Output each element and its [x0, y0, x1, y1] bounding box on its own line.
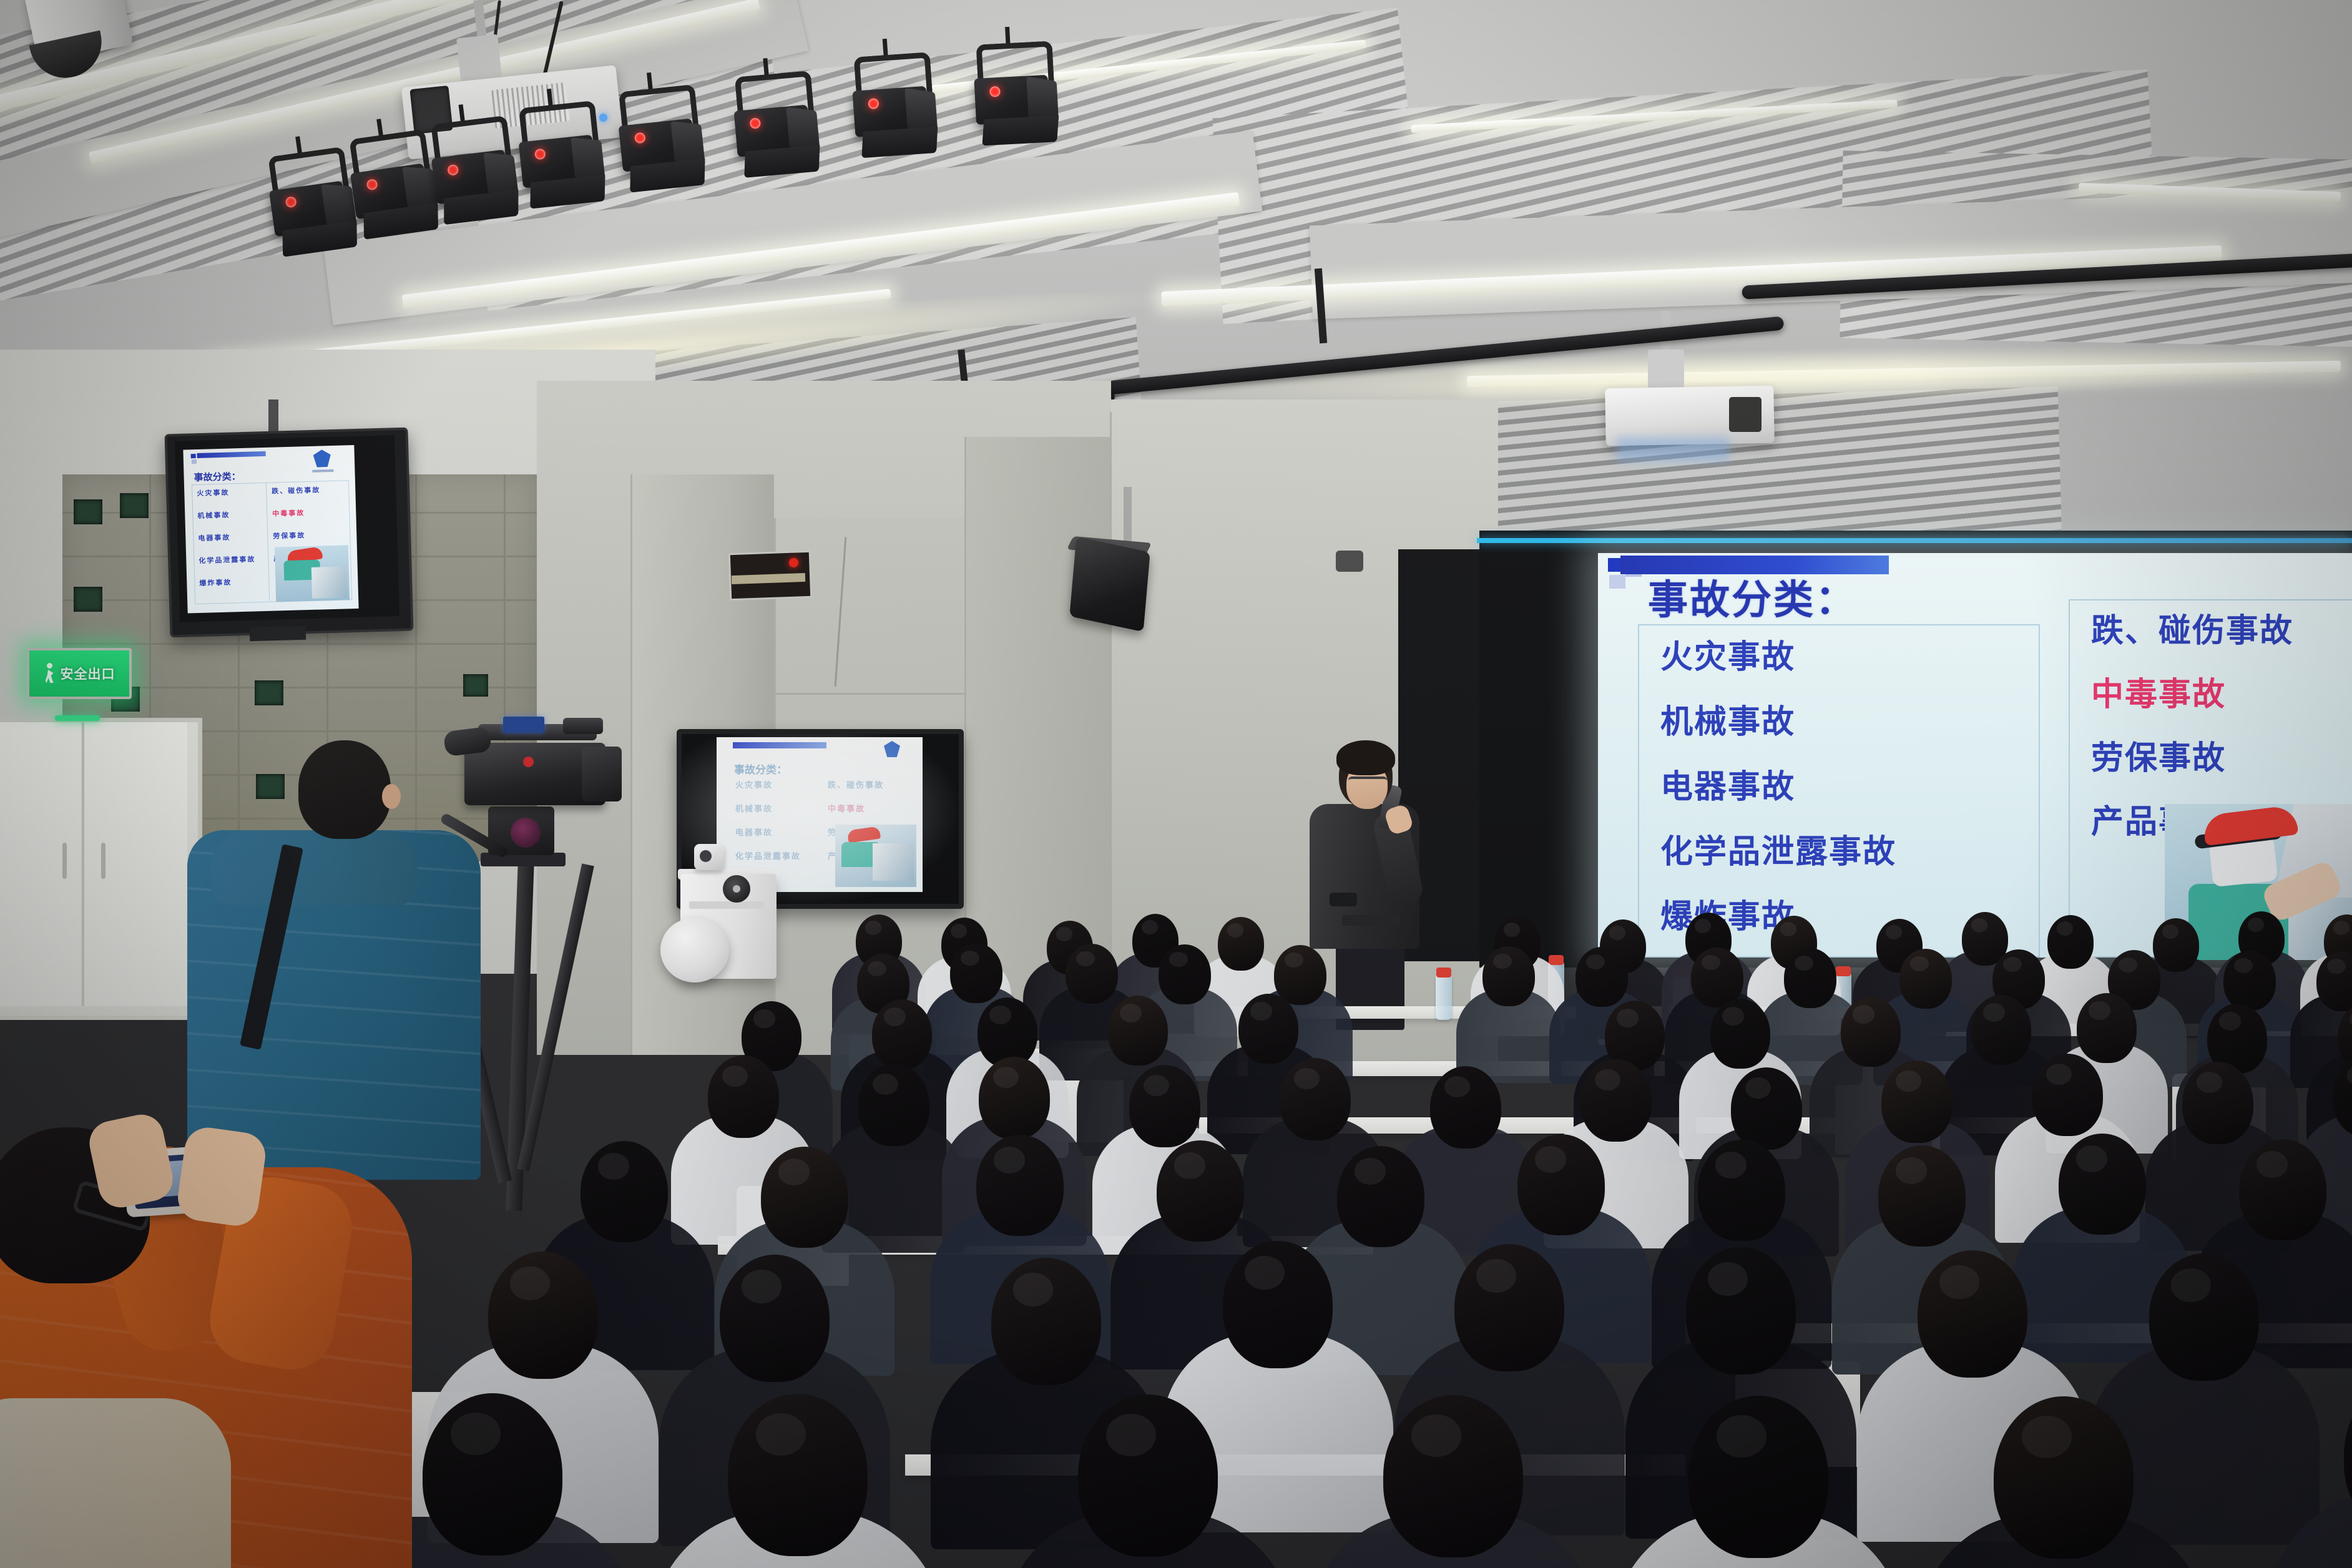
slide-item: 化学品泄露事故: [198, 554, 255, 566]
light-barndoor: [861, 127, 938, 159]
hair-highlight: [1695, 919, 1712, 933]
screen-top-edge: [1477, 538, 2352, 543]
hair-highlight: [884, 1007, 906, 1026]
projector-mount-bracket: [1648, 350, 1684, 391]
hair-highlight: [753, 1009, 775, 1027]
light-barndoor: [982, 115, 1059, 145]
slide-item-highlighted: 中毒事故: [272, 507, 305, 518]
hair-highlight: [865, 921, 882, 934]
wall-vent-hole: [463, 674, 488, 697]
presenter-glasses-icon: [1348, 777, 1387, 787]
slide-item: 火灾事故: [197, 488, 229, 498]
hair-highlight: [1535, 1146, 1566, 1172]
hair-highlight: [1595, 1069, 1620, 1090]
hair-highlight: [1939, 1265, 1979, 1298]
webcam-lens-icon: [700, 850, 712, 862]
hair-highlight: [873, 1074, 898, 1095]
hair-highlight: [742, 1270, 781, 1303]
spherical-360-camera: [660, 918, 729, 982]
slide-item: 爆炸事故: [199, 577, 232, 588]
slide-accent-square: [1609, 575, 1625, 589]
videographer-head: [298, 740, 391, 839]
exit-sign: 安全出口: [27, 648, 132, 699]
slide-item: 劳保事故: [273, 530, 305, 541]
hair-highlight: [1245, 1256, 1284, 1289]
camera-joint-screw: [733, 885, 740, 893]
hair-highlight: [1144, 1075, 1169, 1096]
camcorder-lens-icon: [582, 747, 622, 801]
hair-highlight: [1853, 1005, 1874, 1023]
wall-vent-hole: [256, 774, 285, 799]
hair-highlight: [2057, 921, 2074, 935]
door-handle[interactable]: [101, 843, 105, 879]
hair-highlight: [2162, 924, 2179, 938]
hair-highlight: [951, 924, 968, 938]
slide-item: 电器事故: [198, 532, 230, 543]
hair-highlight: [1174, 1152, 1205, 1178]
lecture-hall-photo: 安全出口 事故分类： 火灾事故机械事故电器事故化学品泄露事故爆炸事故 跌、碰伤事…: [0, 0, 2352, 1568]
hair-highlight: [1717, 1415, 1767, 1458]
slide-item-highlighted: 中毒事故: [2091, 668, 2226, 715]
wall-seam: [630, 474, 632, 1055]
water-bottle: [1436, 974, 1452, 1020]
bottle-cap: [1436, 968, 1451, 978]
hair-highlight: [1013, 1273, 1052, 1306]
wall-vent-hole: [74, 499, 102, 524]
hair-highlight: [2333, 921, 2350, 934]
hair-highlight: [1896, 1071, 1921, 1092]
hair-highlight: [1106, 1414, 1157, 1456]
control-panel-status-led: [789, 558, 798, 567]
camcorder-record-indicator: [523, 757, 534, 767]
hair-highlight: [1227, 923, 1244, 937]
speaker-mount-rod: [1124, 487, 1132, 549]
slide-item: 跌、碰伤事故: [272, 484, 320, 496]
foreground-attendee-hand: [175, 1125, 268, 1229]
hair-highlight: [1120, 1004, 1142, 1022]
camcorder-shotgun-mic: [563, 718, 603, 734]
hair-highlight: [1142, 920, 1159, 934]
hair-highlight: [1294, 1068, 1320, 1089]
exit-door-leaf[interactable]: [84, 722, 187, 1006]
slide-item: 跌、碰伤事故: [2091, 604, 2293, 651]
presenter-belt: [1342, 915, 1399, 926]
slide-logo-icon: [313, 449, 331, 468]
exit-sign-label: 安全出口: [61, 664, 115, 683]
hair-highlight: [1609, 926, 1626, 939]
wall-vent-hole: [120, 493, 149, 518]
hair-highlight: [2046, 1064, 2072, 1085]
presenter-hair: [1336, 740, 1395, 775]
door-indicator-strip: [55, 715, 100, 721]
hair-highlight: [1617, 1009, 1639, 1027]
hair-highlight: [2076, 1145, 2107, 1172]
hair-highlight: [1444, 1076, 1470, 1097]
hair-highlight: [1722, 1007, 1744, 1025]
tv-slide-photo: [275, 545, 350, 602]
hair-highlight: [1411, 1414, 1462, 1457]
videographer-hood: [211, 830, 417, 905]
tripod-pan-knob[interactable]: [511, 818, 541, 848]
door-handle[interactable]: [62, 843, 67, 879]
hair-highlight: [1745, 1077, 1771, 1099]
slide-item: 机械事故: [197, 510, 230, 521]
slide-item: 火灾事故: [1660, 630, 1795, 677]
hair-highlight: [1896, 1157, 1927, 1183]
hair-highlight: [756, 1413, 806, 1456]
hair-highlight: [2256, 1151, 2288, 1177]
hair-highlight: [2197, 1072, 2222, 1093]
hair-highlight: [1250, 1002, 1272, 1020]
tv-slide: 事故分类： 火灾事故机械事故电器事故化学品泄露事故爆炸事故 跌、碰伤事故中毒事故…: [183, 445, 358, 614]
hair-highlight: [1504, 923, 1521, 936]
slide-clicker[interactable]: [1330, 893, 1357, 906]
hair-highlight: [993, 1067, 1019, 1088]
hair-highlight: [2022, 1416, 2072, 1458]
hair-highlight: [2089, 1001, 2110, 1019]
hair-highlight: [1355, 1158, 1386, 1184]
slide-title: 事故分类：: [1648, 568, 1857, 625]
small-wall-camera: [1336, 551, 1363, 572]
bottle-cap: [1549, 955, 1564, 965]
exit-door-leaf[interactable]: [0, 722, 81, 1006]
camcorder-lcd-screen: [503, 717, 544, 733]
ceiling-speaker: [1069, 537, 1150, 632]
hair-highlight: [2219, 1012, 2241, 1030]
wall-seam: [774, 693, 968, 695]
wall-vent-hole: [255, 680, 283, 705]
tv-bottom-mount: [250, 626, 306, 642]
slide-item: 电器事故: [1660, 760, 1795, 807]
hair-highlight: [1708, 1262, 1747, 1295]
hair-highlight: [778, 1159, 810, 1185]
hair-highlight: [1715, 1152, 1747, 1178]
hair-highlight: [451, 1413, 501, 1455]
slide-item: 劳保事故: [2091, 732, 2226, 778]
lectern-panel-slot: [689, 901, 764, 909]
hair-highlight: [722, 1066, 748, 1087]
hair-highlight: [2171, 1268, 2210, 1301]
projector-status-led: [599, 114, 607, 122]
projector-lens-icon: [1729, 397, 1762, 432]
hair-highlight: [994, 1147, 1025, 1173]
fur-collar: [0, 1398, 231, 1568]
hair-highlight: [1056, 927, 1073, 941]
photo-red-cap: [2202, 805, 2299, 846]
hair-highlight: [1476, 1259, 1516, 1292]
hair-highlight: [1983, 1003, 2005, 1021]
hair-highlight: [989, 1006, 1011, 1024]
projector-beam-glow: [1617, 437, 1729, 462]
hair-highlight: [2248, 918, 2265, 931]
slide-item: 机械事故: [1660, 695, 1795, 742]
tv-monitor-screen: 事故分类： 火灾事故机械事故电器事故化学品泄露事故爆炸事故 跌、碰伤事故中毒事故…: [175, 435, 399, 622]
videographer-ear: [382, 784, 401, 809]
hair-highlight: [510, 1267, 549, 1300]
bottle-cap: [1836, 966, 1851, 976]
hair-highlight: [598, 1153, 629, 1179]
running-man-icon: [44, 663, 56, 684]
slide-item: 化学品泄露事故: [1660, 825, 1896, 872]
hair-highlight: [1886, 925, 1903, 939]
wall-vent-hole: [74, 587, 102, 612]
hair-highlight: [1780, 922, 1797, 936]
door-gap: [82, 722, 84, 1006]
tv-slide-title: 事故分类：: [194, 469, 241, 484]
hair-highlight: [1971, 918, 1988, 932]
